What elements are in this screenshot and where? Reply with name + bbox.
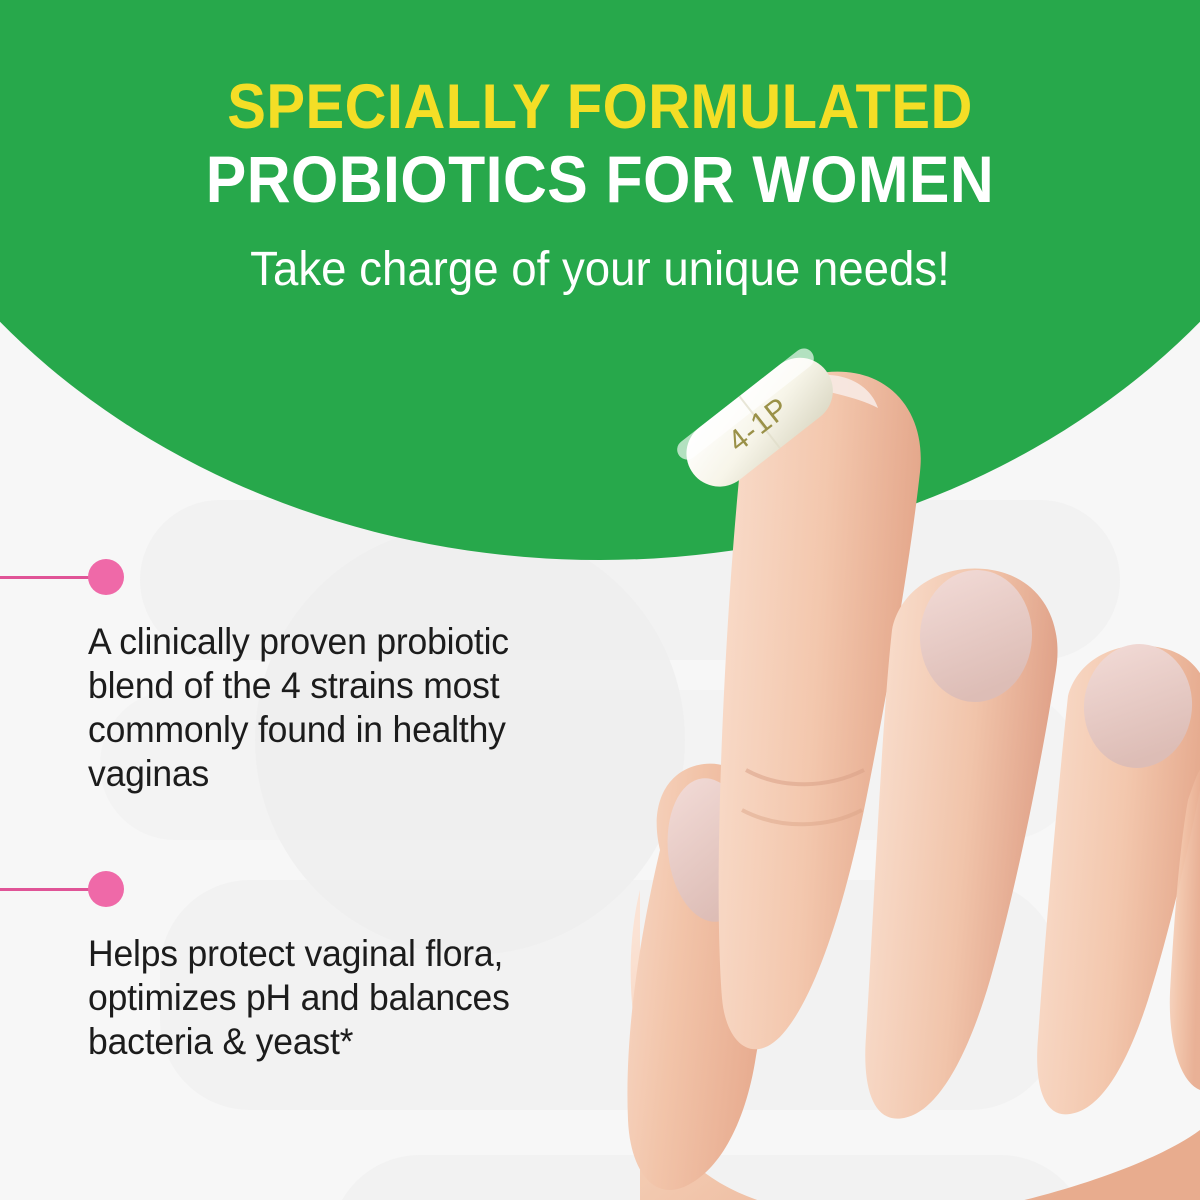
bullet-connector-line-2 xyxy=(0,888,97,891)
benefit-text-1: A clinically proven probiotic blend of t… xyxy=(88,620,568,796)
headline-primary: SPECIALLY FORMULATED xyxy=(48,76,1152,139)
subheadline: Take charge of your unique needs! xyxy=(30,246,1170,294)
bullet-dot-icon-2 xyxy=(88,871,124,907)
promo-banner: SPECIALLY FORMULATED PROBIOTICS FOR WOME… xyxy=(0,0,1200,1200)
headline-secondary: PROBIOTICS FOR WOMEN xyxy=(48,146,1152,212)
bullet-connector-line-1 xyxy=(0,576,97,579)
bullet-dot-icon-1 xyxy=(88,559,124,595)
hand-illustration: 4-1P xyxy=(600,330,1200,1200)
hand-with-capsule-image: 4-1P xyxy=(600,330,1200,1200)
benefit-text-2: Helps protect vaginal flora, optimizes p… xyxy=(88,932,587,1064)
